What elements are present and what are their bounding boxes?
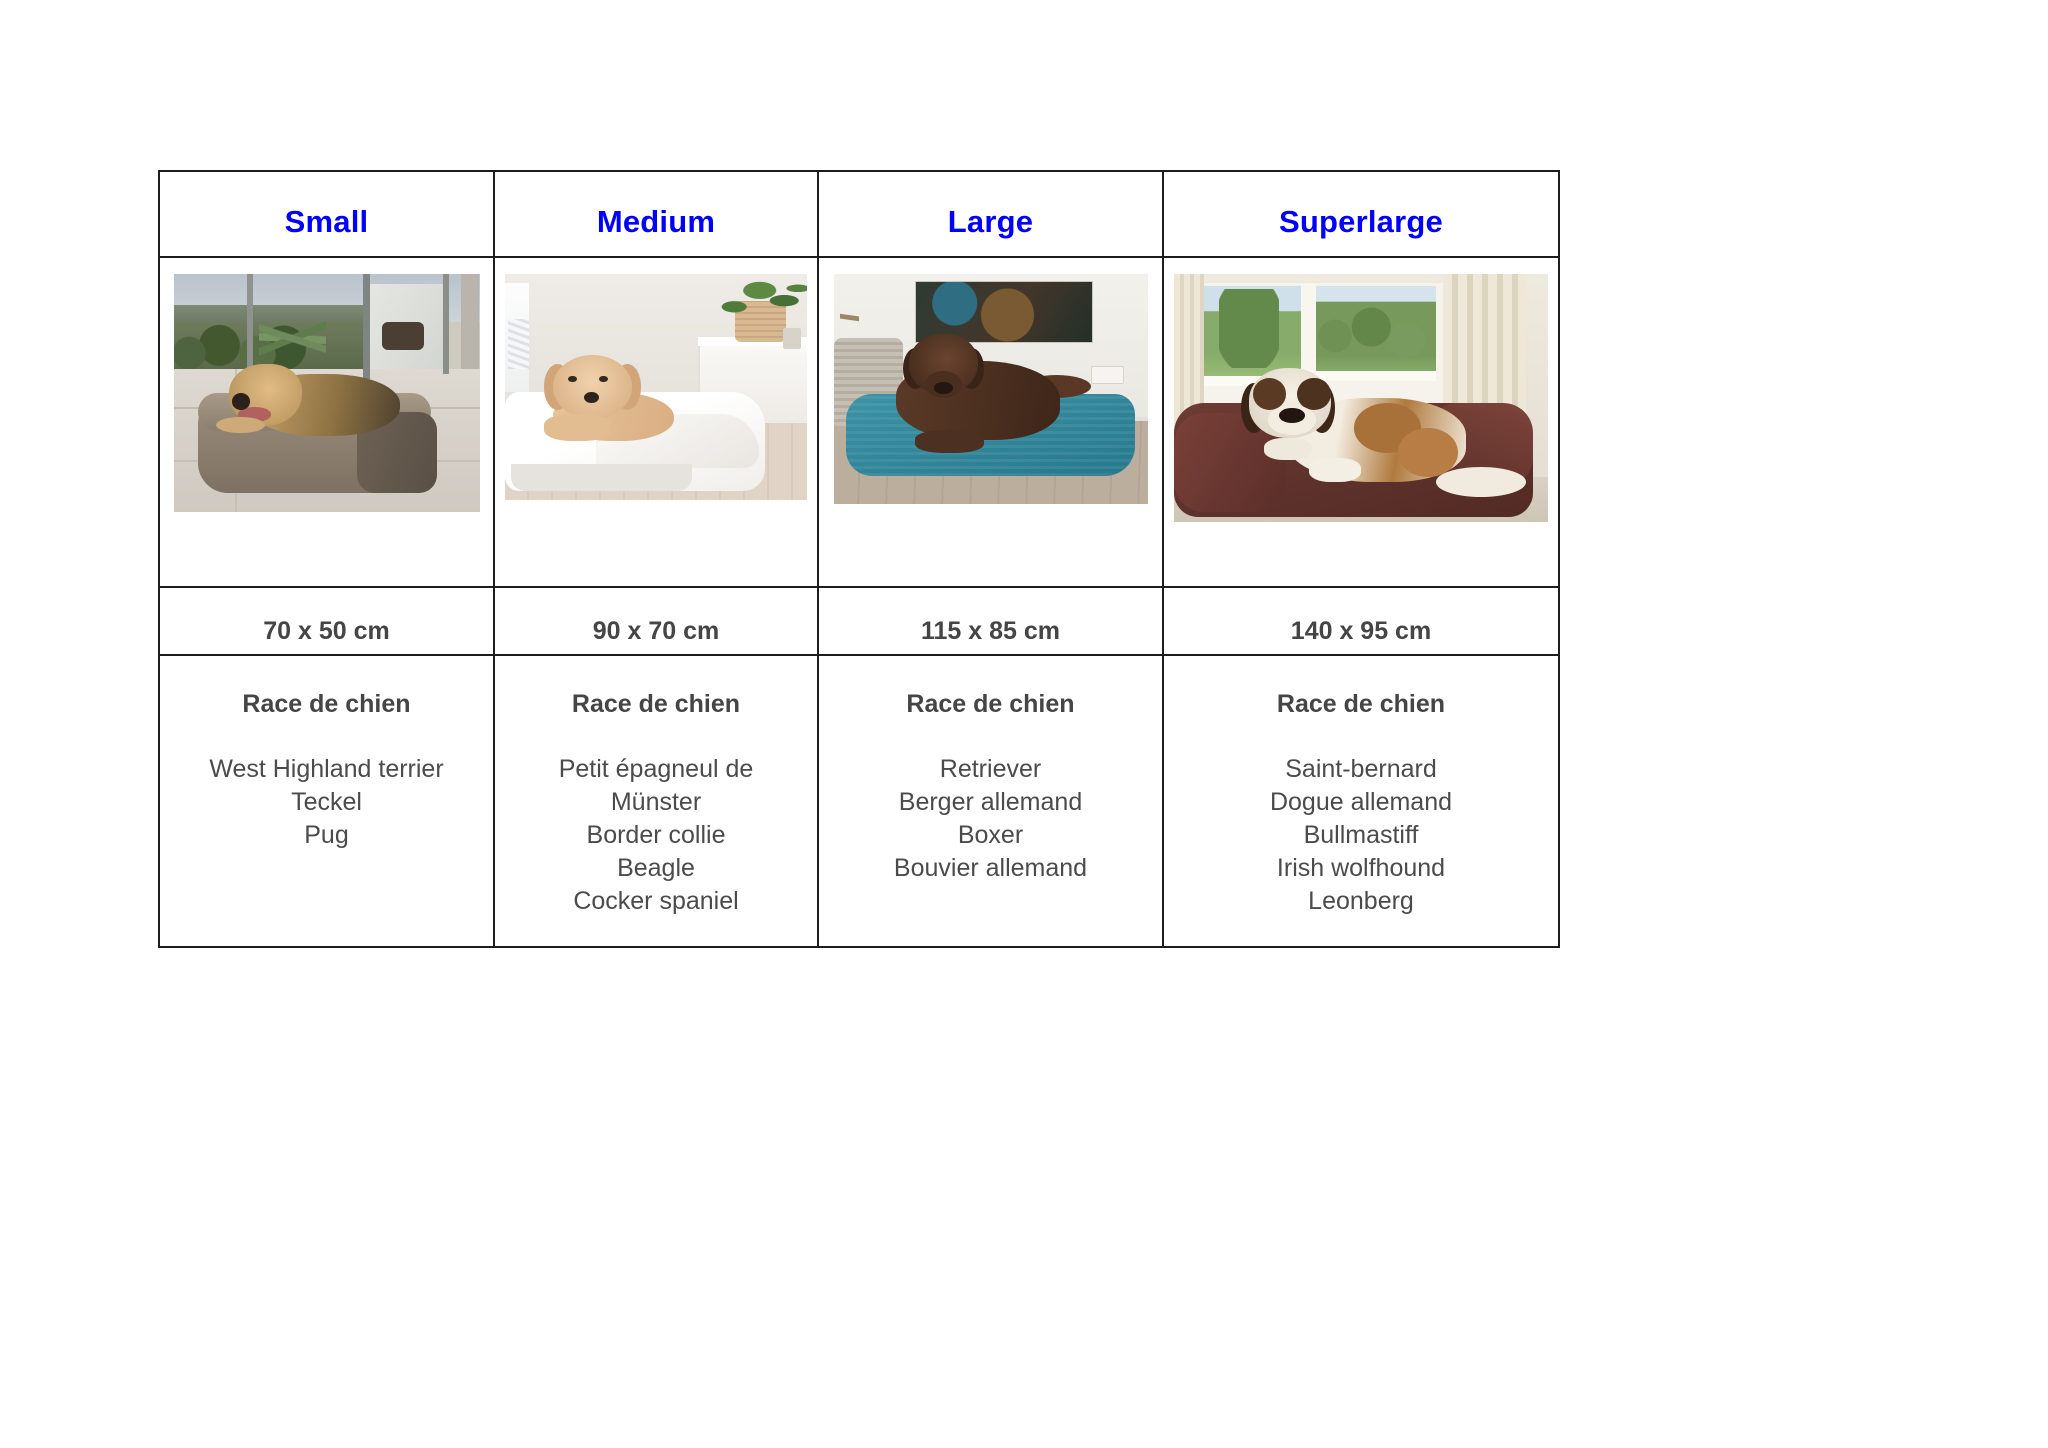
breed-list-item: Retriever: [819, 753, 1162, 786]
photo-superlarge-window-sill-right: [1316, 371, 1436, 381]
breed-title-small: Race de chien: [160, 690, 493, 719]
product-photo-superlarge: [1174, 274, 1548, 522]
dimension-label-large: 115 x 85 cm: [819, 597, 1162, 646]
column-header-label-large: Large: [819, 192, 1162, 237]
photo-small-right-wall: [461, 274, 479, 369]
column-header-label-small: Small: [160, 192, 493, 237]
header-cell-large: Large: [818, 171, 1163, 257]
breed-cell-large: Race de chien RetrieverBerger allemandBo…: [818, 655, 1163, 947]
product-photo-small: [174, 274, 480, 512]
photo-superlarge-dog-patch-b: [1398, 428, 1458, 478]
table-breed-row: Race de chien West Highland terrierTecke…: [159, 655, 1559, 947]
photo-wrap-large: [819, 258, 1162, 504]
photo-superlarge-dog-paw-rear: [1264, 438, 1313, 460]
breed-list-item: Münster: [495, 786, 817, 819]
breed-list-item: Irish wolfhound: [1164, 852, 1558, 885]
photo-medium-dog-eye-right: [599, 376, 608, 383]
breed-list-item: Cocker spaniel: [495, 885, 817, 918]
header-cell-small: Small: [159, 171, 494, 257]
header-cell-superlarge: Superlarge: [1163, 171, 1559, 257]
breed-list-item: Beagle: [495, 852, 817, 885]
photo-medium-dog-head: [553, 355, 632, 418]
photo-small-dog-nose: [232, 393, 250, 410]
photo-superlarge-dog-tail: [1436, 467, 1526, 497]
dimension-cell-large: 115 x 85 cm: [818, 587, 1163, 655]
breed-list-item: Boxer: [819, 819, 1162, 852]
breed-list-item: Bouvier allemand: [819, 852, 1162, 885]
breed-title-large: Race de chien: [819, 690, 1162, 719]
photo-cell-superlarge: [1163, 257, 1559, 587]
breed-title-superlarge: Race de chien: [1164, 690, 1558, 719]
breed-cell-superlarge: Race de chien Saint-bernardDogue alleman…: [1163, 655, 1559, 947]
breed-list-item: Berger allemand: [819, 786, 1162, 819]
breed-list-item: Dogue allemand: [1164, 786, 1558, 819]
breed-block-small: Race de chien West Highland terrierTecke…: [160, 656, 493, 852]
dimension-label-superlarge: 140 x 95 cm: [1164, 597, 1558, 646]
dimension-label-small: 70 x 50 cm: [160, 597, 493, 646]
photo-small-door-frame-b: [363, 274, 370, 379]
photo-superlarge-dog-nose: [1279, 408, 1305, 423]
photo-superlarge-dog-paw-front: [1309, 458, 1361, 483]
photo-superlarge-hedge: [1316, 299, 1436, 373]
photo-wrap-small: [160, 258, 493, 512]
breed-list-item: Teckel: [160, 786, 493, 819]
table-photo-row: [159, 257, 1559, 587]
photo-wrap-superlarge: [1164, 258, 1558, 522]
photo-large-wall-socket: [1091, 366, 1124, 384]
breed-list-item: Leonberg: [1164, 885, 1558, 918]
breed-list-medium: Petit épagneul deMünsterBorder collieBea…: [495, 753, 817, 918]
photo-medium-dog-paws: [544, 414, 610, 441]
dimension-cell-superlarge: 140 x 95 cm: [1163, 587, 1559, 655]
dimension-cell-small: 70 x 50 cm: [159, 587, 494, 655]
column-header-label-medium: Medium: [495, 192, 817, 237]
breed-block-superlarge: Race de chien Saint-bernardDogue alleman…: [1164, 656, 1558, 918]
photo-medium-blind: [508, 319, 529, 369]
photo-cell-large: [818, 257, 1163, 587]
photo-medium-dog-nose: [584, 392, 599, 403]
breed-list-item: Bullmastiff: [1164, 819, 1558, 852]
photo-superlarge-tree: [1219, 289, 1279, 368]
dimension-cell-medium: 90 x 70 cm: [494, 587, 818, 655]
photo-large-dog-paws: [915, 430, 984, 453]
photo-small-far-object: [382, 322, 425, 351]
breed-cell-medium: Race de chien Petit épagneul deMünsterBo…: [494, 655, 818, 947]
photo-large-twig: [840, 292, 859, 343]
breed-cell-small: Race de chien West Highland terrierTecke…: [159, 655, 494, 947]
breed-list-item: Saint-bernard: [1164, 753, 1558, 786]
breed-list-large: RetrieverBerger allemandBoxerBouvier all…: [819, 753, 1162, 885]
table-header-row: Small Medium Large Superlarge: [159, 171, 1559, 257]
header-cell-medium: Medium: [494, 171, 818, 257]
breed-list-item: West Highland terrier: [160, 753, 493, 786]
breed-title-medium: Race de chien: [495, 690, 817, 719]
breed-list-superlarge: Saint-bernardDogue allemandBullmastiffIr…: [1164, 753, 1558, 918]
photo-medium-candle: [783, 328, 801, 348]
breed-block-medium: Race de chien Petit épagneul deMünsterBo…: [495, 656, 817, 918]
product-photo-large: [834, 274, 1148, 504]
table-dimension-row: 70 x 50 cm 90 x 70 cm 115 x 85 cm 140 x …: [159, 587, 1559, 655]
breed-list-item: Petit épagneul de: [495, 753, 817, 786]
page-canvas: Small Medium Large Superlarge: [0, 0, 2048, 1448]
column-header-label-superlarge: Superlarge: [1164, 192, 1558, 237]
photo-cell-small: [159, 257, 494, 587]
photo-wrap-medium: [495, 258, 817, 500]
dimension-label-medium: 90 x 70 cm: [495, 597, 817, 646]
product-photo-medium: [505, 274, 807, 500]
breed-block-large: Race de chien RetrieverBerger allemandBo…: [819, 656, 1162, 885]
photo-large-dog-nose: [934, 382, 953, 394]
breed-list-item: Border collie: [495, 819, 817, 852]
dog-bed-size-table: Small Medium Large Superlarge: [158, 170, 1560, 948]
photo-medium-dog-bed-shadow: [511, 464, 692, 491]
photo-cell-medium: [494, 257, 818, 587]
photo-medium-plant: [716, 274, 807, 315]
photo-small-door-frame-c: [443, 274, 449, 374]
breed-list-small: West Highland terrierTeckelPug: [160, 753, 493, 852]
breed-list-item: Pug: [160, 819, 493, 852]
